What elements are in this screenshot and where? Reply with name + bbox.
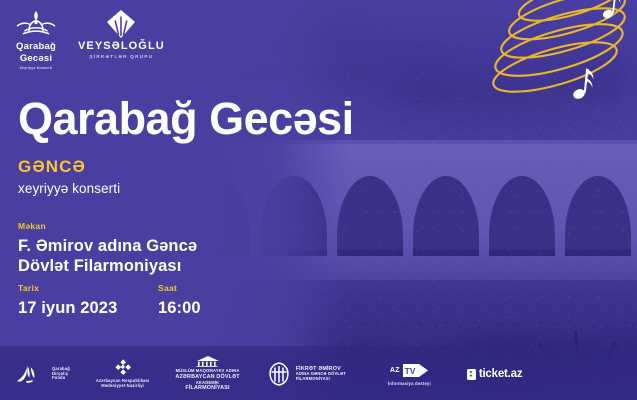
partner-logo-iticket[interactable]: ticket.az [467, 368, 523, 380]
aztv-logo-row: AZ TV [390, 363, 429, 378]
beamed-note-icon [572, 69, 594, 101]
partner-logo-medeniyyet-nazirliyi[interactable]: Azərbaycan Respublikası Mədəniyyət Nazir… [96, 359, 150, 389]
poster-title: Qarabağ Gecəsi [18, 96, 354, 141]
logo-qarabag-gecesi[interactable]: Qarabağ Gecəsi Xeyriyyə Konserti [14, 8, 58, 70]
poster-city: GƏNCƏ [18, 158, 354, 175]
time-block: Saat 16:00 [158, 284, 201, 318]
logo-veyseloglu-name: VEYSƏLOĞLU [78, 41, 165, 52]
philharmonic-building-emblem-icon [186, 356, 230, 367]
lyre-emblem-icon [266, 361, 292, 387]
logo-qarabag-gecesi-tagline: Xeyriyyə Konserti [20, 66, 53, 70]
partner-logo-fondu-text: Qarabağ Dirçəliş Fondu [52, 367, 70, 381]
partner-logo-filarmoniya-text: MÜSLÜM MAQOMAYEV ADINA AZƏRBAYCAN DÖVLƏT… [175, 369, 239, 391]
date-value: 17 iyun 2023 [18, 298, 117, 318]
logo-qarabag-gecesi-line2: Gecəsi [20, 54, 52, 64]
aztv-az-label: AZ [390, 367, 400, 374]
partner-logo-nazirliyi-text: Azərbaycan Respublikası Mədəniyyət Nazir… [96, 379, 150, 389]
partner-logo-aztv[interactable]: AZ TV İnformasiya dəstəyi [388, 363, 431, 386]
logo-qarabag-gecesi-line1: Qarabağ [16, 42, 56, 52]
iticket-label: ticket.az [479, 368, 523, 380]
veyseloglu-diamond-emblem-icon [106, 9, 136, 39]
iticket-square-logo-icon [467, 369, 476, 380]
iticket-logo-row: ticket.az [467, 368, 523, 380]
gence-line-3: FİLARMONİYASI [296, 377, 346, 382]
venue-block: Məkan F. Əmirov adına Gəncə Dövlət Filar… [18, 222, 197, 276]
poster-subtitle: xeyriyyə konserti [18, 182, 354, 196]
time-label: Saat [158, 284, 201, 293]
venue-line2: Dövlət Filarmoniyası [18, 256, 197, 276]
partner-logo-gence-filarmoniya-text: FİKRƏT ƏMİROV ADINA GƏNCƏ DÖVLƏT FİLARMO… [296, 366, 346, 382]
aztv-support-text: İnformasiya dəstəyi [388, 381, 431, 386]
nazirliyi-line-2: Mədəniyyət Nazirliyi [101, 384, 144, 389]
qarabag-gecesi-emblem-icon [14, 8, 58, 40]
ministry-of-culture-emblem-icon [113, 359, 133, 376]
partner-logo-azerbaycan-dovlet-filarmoniyasi[interactable]: MÜSLÜM MAQOMAYEV ADINA AZƏRBAYCAN DÖVLƏT… [175, 356, 239, 391]
svg-text:TV: TV [404, 366, 415, 376]
date-block: Tarix 17 iyun 2023 [18, 284, 117, 318]
venue-label: Məkan [18, 222, 197, 231]
logo-veyseloglu[interactable]: VEYSƏLOĞLU ŞİRKƏTLƏR QRUPU [78, 8, 165, 59]
logo-veyseloglu-tagline: ŞİRKƏTLƏR QRUPU [89, 54, 153, 59]
music-spiral-swirl-icon [467, 0, 637, 136]
partner-logo-fikret-emirov-gence-filarmoniyasi[interactable]: FİKRƏT ƏMİROV ADINA GƏNCƏ DÖVLƏT FİLARMO… [266, 361, 346, 387]
time-value: 16:00 [158, 298, 201, 318]
poster-headline-block: Qarabağ Gecəsi GƏNCƏ xeyriyyə konserti [18, 96, 354, 196]
partner-logo-qarabag-dircelis-fondu[interactable]: Qarabağ Dirçəliş Fondu [14, 363, 70, 385]
qarabag-revival-fund-bird-emblem-icon [14, 363, 48, 385]
aztv-play-logo-icon: TV [403, 363, 429, 378]
footer-partner-strip: Qarabağ Dirçəliş Fondu Azərbaycan Respub… [0, 348, 637, 400]
venue-line1: F. Əmirov adına Gəncə [18, 236, 197, 256]
date-label: Tarix [18, 284, 117, 293]
fondu-line-3: Fondu [52, 376, 70, 381]
filarmoniya-line-4: FİLARMONİYASI [185, 385, 229, 391]
header-sponsor-logos: Qarabağ Gecəsi Xeyriyyə Konserti VEYSƏLO… [14, 8, 165, 70]
event-poster: Qarabağ Gecəsi Xeyriyyə Konserti VEYSƏLO… [0, 0, 637, 400]
